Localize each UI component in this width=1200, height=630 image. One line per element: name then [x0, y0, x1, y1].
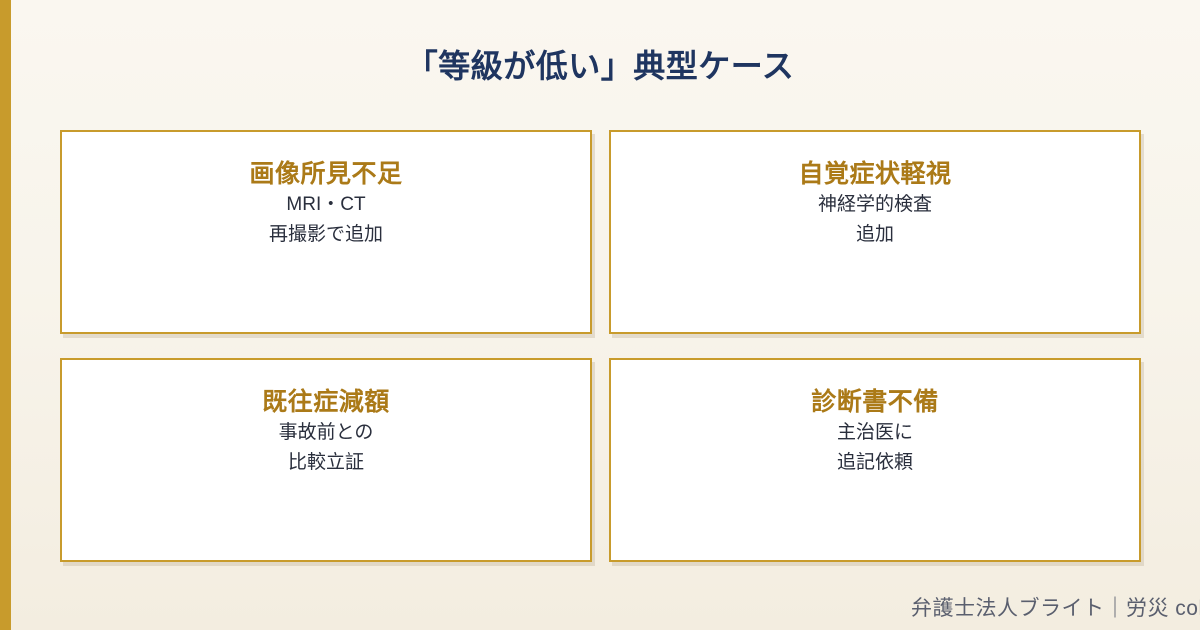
case-card-content: 既往症減額 事故前との 比較立証 — [62, 388, 590, 478]
case-card-body: MRI・CT 再撮影で追加 — [62, 190, 590, 250]
case-card-content: 自覚症状軽視 神経学的検査 追加 — [611, 160, 1139, 250]
case-card-body-line: 追記依頼 — [635, 448, 1115, 478]
page-title: 「等級が低い」典型ケース — [0, 44, 1200, 88]
case-card-body-line: MRI・CT — [86, 190, 566, 220]
case-card-content: 診断書不備 主治医に 追記依頼 — [611, 388, 1139, 478]
case-card-body-line: 再撮影で追加 — [86, 220, 566, 250]
case-card-body-line: 比較立証 — [86, 448, 566, 478]
case-card-heading: 画像所見不足 — [62, 160, 590, 190]
case-card[interactable]: 自覚症状軽視 神経学的検査 追加 — [609, 130, 1141, 334]
case-card-body-line: 追加 — [635, 220, 1115, 250]
footer-attribution: 弁護士法人ブライト｜労災 column — [911, 588, 1200, 630]
case-card-heading: 既往症減額 — [62, 388, 590, 418]
case-card-body-line: 主治医に — [635, 418, 1115, 448]
case-card-body-line: 神経学的検査 — [635, 190, 1115, 220]
case-card-heading: 自覚症状軽視 — [611, 160, 1139, 190]
case-card[interactable]: 既往症減額 事故前との 比較立証 — [60, 358, 592, 562]
case-card-body: 事故前との 比較立証 — [62, 418, 590, 478]
case-card-heading: 診断書不備 — [611, 388, 1139, 418]
slide-stage: 「等級が低い」典型ケース 画像所見不足 MRI・CT 再撮影で追加 自覚症状軽視… — [0, 0, 1200, 630]
case-card-grid: 画像所見不足 MRI・CT 再撮影で追加 自覚症状軽視 神経学的検査 追加 既往… — [60, 130, 1141, 562]
case-card-body-line: 事故前との — [86, 418, 566, 448]
case-card-body: 主治医に 追記依頼 — [611, 418, 1139, 478]
case-card[interactable]: 画像所見不足 MRI・CT 再撮影で追加 — [60, 130, 592, 334]
case-card[interactable]: 診断書不備 主治医に 追記依頼 — [609, 358, 1141, 562]
case-card-body: 神経学的検査 追加 — [611, 190, 1139, 250]
case-card-content: 画像所見不足 MRI・CT 再撮影で追加 — [62, 160, 590, 250]
footer: 弁護士法人ブライト｜労災 column — [0, 588, 1200, 630]
